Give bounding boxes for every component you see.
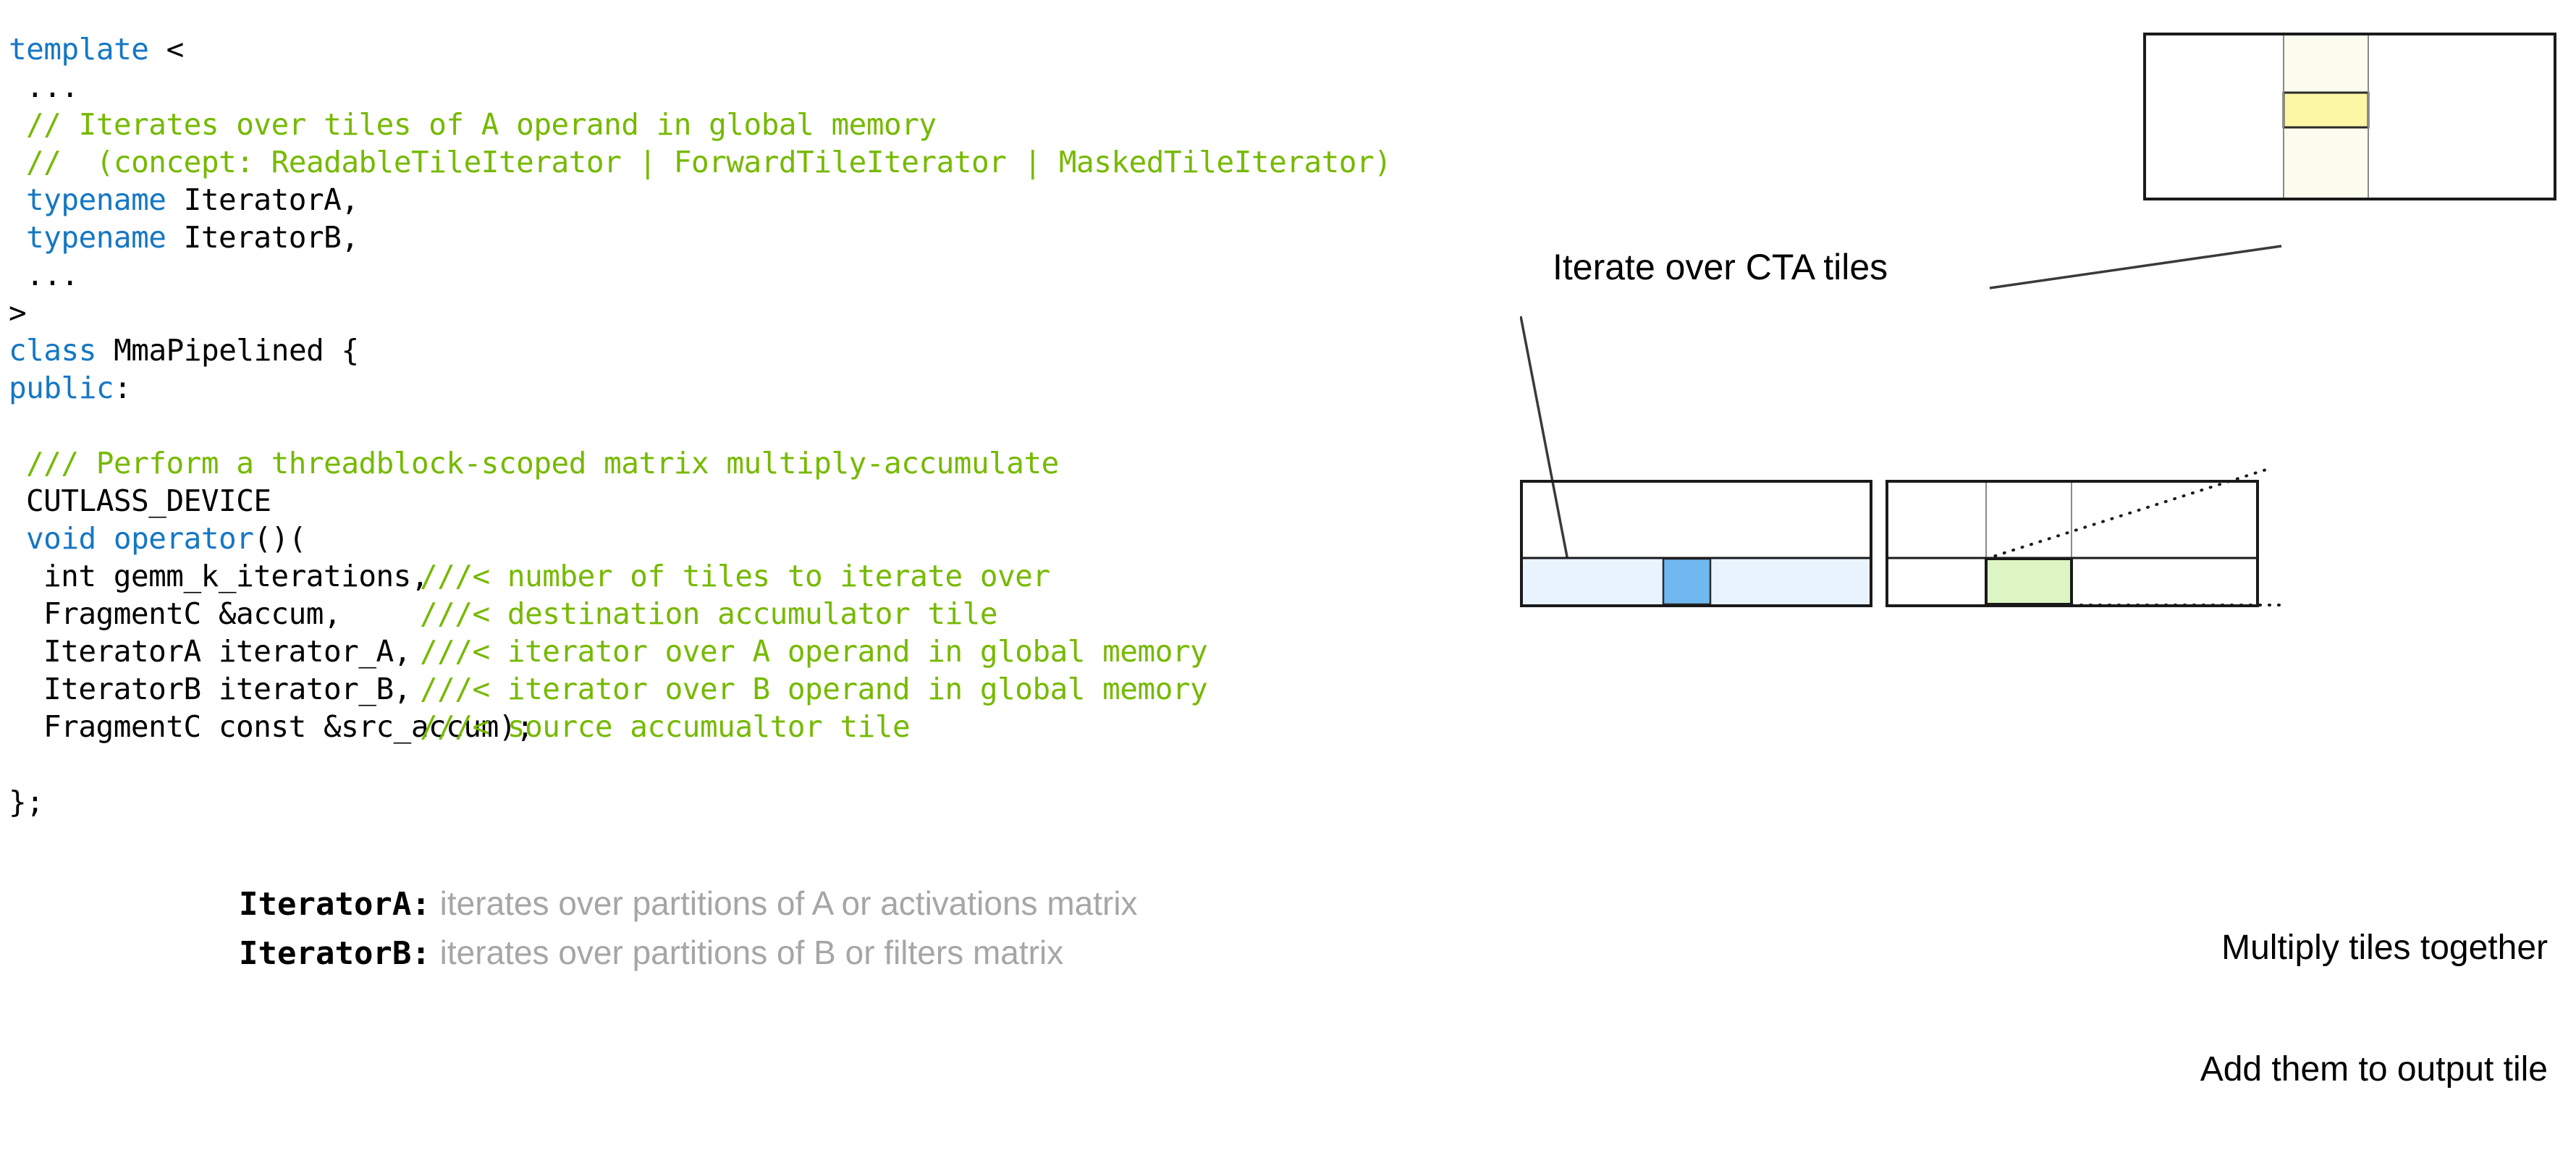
- legend-term: IteratorA:: [239, 886, 431, 923]
- multiply-tiles-line-1: Multiply tiles together: [1520, 928, 2548, 968]
- code-token-pln: ...: [26, 258, 79, 292]
- code-param-comment: ///< iterator over A operand in global m…: [420, 633, 1207, 670]
- tile-diagram: Iterate over CTA tiles Multiply tiles to…: [1520, 0, 2576, 989]
- b-operand-highlight-tile: [2284, 93, 2368, 127]
- code-line: int gemm_k_iterations,: [43, 557, 428, 595]
- legend-row: IteratorA: iterates over partitions of A…: [239, 879, 1469, 929]
- code-line: // Iterates over tiles of A operand in g…: [26, 106, 937, 143]
- cta-leader-line-upper: [1990, 246, 2281, 288]
- code-token-pln: CUTLASS_DEVICE: [26, 483, 271, 518]
- legend-term: IteratorB:: [239, 935, 431, 972]
- tile-diagram-svg: [1520, 0, 2576, 989]
- code-line: ...: [26, 68, 79, 106]
- code-line: CUTLASS_DEVICE: [26, 482, 271, 520]
- code-token-pln: ...: [26, 69, 79, 104]
- code-line: FragmentC &accum,: [43, 595, 341, 633]
- code-param-comment: ///< iterator over B operand in global m…: [420, 670, 1207, 708]
- code-token-pln: int gemm_k_iterations,: [43, 559, 428, 593]
- code-line: public:: [9, 369, 131, 407]
- code-token-kw: typename: [26, 220, 166, 255]
- output-highlight-tile: [1986, 559, 2072, 604]
- code-line: class MmaPipelined {: [9, 331, 359, 369]
- code-line: // (concept: ReadableTileIterator | Forw…: [26, 143, 1391, 181]
- b-operand-matrix: [2145, 34, 2555, 199]
- code-token-pln: };: [9, 785, 43, 819]
- code-token-pln: FragmentC &accum,: [43, 596, 341, 631]
- multiply-tiles-label: Multiply tiles together Add them to outp…: [1520, 847, 2548, 1171]
- code-token-kw: void operator: [26, 521, 253, 556]
- code-token-pln: >: [9, 295, 26, 330]
- code-line: ...: [26, 256, 79, 294]
- code-line: IteratorB iterator_B,: [43, 670, 411, 708]
- output-matrix: [1887, 468, 2280, 606]
- code-line: >: [9, 294, 26, 331]
- code-token-pln: :: [114, 371, 131, 405]
- legend-description: iterates over partitions of B or filters…: [431, 934, 1063, 971]
- code-block: template <...// Iterates over tiles of A…: [0, 0, 1650, 825]
- code-token-cmt: // (concept: ReadableTileIterator | Forw…: [26, 145, 1391, 179]
- legend-description: iterates over partitions of A or activat…: [431, 884, 1138, 922]
- code-token-cmt: /// Perform a threadblock-scoped matrix …: [26, 446, 1059, 481]
- code-token-kw: template: [9, 32, 148, 67]
- code-token-cmt: // Iterates over tiles of A operand in g…: [26, 107, 937, 142]
- code-line: /// Perform a threadblock-scoped matrix …: [26, 444, 1059, 482]
- code-line: typename IteratorA,: [26, 181, 359, 219]
- code-token-pln: IteratorA,: [166, 182, 358, 217]
- code-token-kw: class: [9, 333, 96, 368]
- a-operand-matrix: [1521, 481, 1871, 606]
- code-token-pln: ()(: [253, 521, 306, 556]
- code-line: template <: [9, 30, 184, 68]
- iterator-legend: IteratorA: iterates over partitions of A…: [239, 879, 1469, 978]
- code-token-pln: MmaPipelined {: [96, 333, 359, 368]
- code-line: typename IteratorB,: [26, 219, 359, 256]
- multiply-tiles-line-2: Add them to output tile: [1520, 1049, 2548, 1090]
- code-line: };: [9, 783, 43, 821]
- code-param-comment: ///< source accumualtor tile: [420, 708, 910, 745]
- cta-leader-line-lower: [1521, 316, 1570, 572]
- code-token-kw: public: [9, 371, 114, 405]
- a-operand-highlight-tile: [1663, 559, 1710, 604]
- code-token-pln: IteratorB,: [166, 220, 358, 255]
- code-token-pln: IteratorA iterator_A,: [43, 634, 411, 669]
- code-line: IteratorA iterator_A,: [43, 633, 411, 670]
- code-param-comment: ///< destination accumulator tile: [420, 595, 997, 633]
- code-token-pln: <: [148, 32, 183, 67]
- code-param-comment: ///< number of tiles to iterate over: [420, 557, 1050, 595]
- code-line: void operator()(: [26, 520, 306, 557]
- iterate-over-cta-tiles-label: Iterate over CTA tiles: [1553, 246, 1888, 288]
- code-token-kw: typename: [26, 182, 166, 217]
- legend-row: IteratorB: iterates over partitions of B…: [239, 929, 1469, 978]
- code-token-pln: IteratorB iterator_B,: [43, 672, 411, 706]
